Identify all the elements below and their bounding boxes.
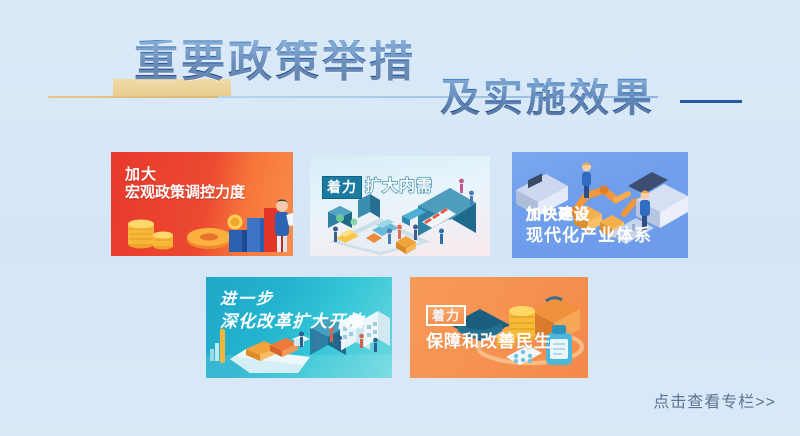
page-title-line1: 重要政策举措 (134, 40, 416, 84)
header: 重要政策举措 及实施效果 (0, 0, 800, 140)
card-caption: 进一步 深化改革扩大开放 (220, 291, 364, 332)
card-line1: 着力 (322, 176, 362, 199)
title-end-rule (680, 100, 742, 103)
title-gold-rule (48, 96, 218, 98)
card-line2: 扩大内需 (365, 178, 433, 197)
card-line2: 深化改革扩大开放 (220, 312, 364, 332)
view-column-link[interactable]: 点击查看专栏>> (653, 388, 776, 412)
card-reform-opening[interactable]: 进一步 深化改革扩大开放 (206, 277, 392, 378)
card-line2: 现代化产业体系 (526, 226, 652, 246)
card-line1: 加快建设 (526, 206, 652, 224)
isometric-city-icon (310, 156, 490, 256)
card-line2: 保障和改善民生 (426, 332, 552, 352)
card-domestic-demand[interactable]: 着力 扩大内需 (310, 156, 490, 256)
card-caption: 着力 保障和改善民生 (426, 305, 552, 352)
card-line1: 进一步 (220, 291, 364, 310)
card-livelihood[interactable]: 着力 保障和改善民生 (410, 277, 588, 378)
card-line1: 加大 (125, 166, 245, 184)
card-caption: 加大 宏观政策调控力度 (125, 166, 245, 201)
poster-canvas: 重要政策举措 及实施效果 (0, 0, 800, 436)
card-line1: 着力 (426, 305, 466, 326)
card-macro-policy[interactable]: 加大 宏观政策调控力度 (111, 152, 293, 256)
card-modern-industry[interactable]: 加快建设 现代化产业体系 (512, 152, 688, 258)
card-line2: 宏观政策调控力度 (125, 184, 245, 202)
card-caption: 着力 扩大内需 (322, 176, 433, 199)
page-title-line2: 及实施效果 (440, 78, 655, 118)
card-caption: 加快建设 现代化产业体系 (526, 206, 652, 246)
